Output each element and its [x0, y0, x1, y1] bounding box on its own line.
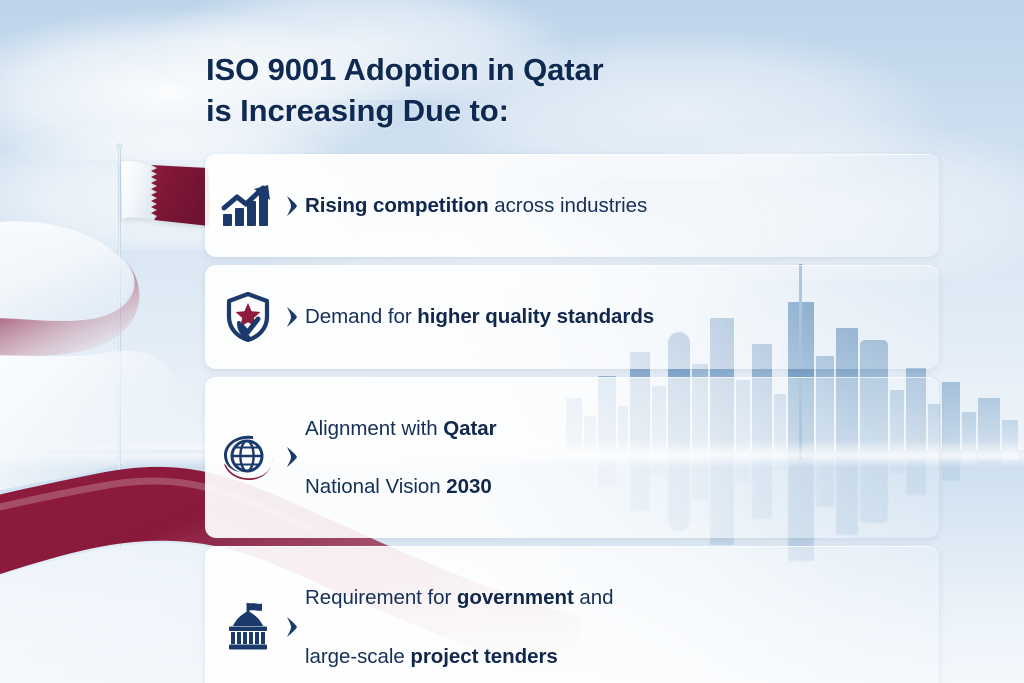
- list-item-regular: across industries: [489, 194, 648, 217]
- chevron-right-icon: [279, 306, 305, 328]
- list-item-regular: Alignment with: [305, 417, 443, 440]
- globe-orbit-icon: [217, 428, 279, 486]
- list-item-line: Requirement for government and: [305, 583, 613, 612]
- list-item[interactable]: Demand for higher quality standards: [205, 265, 939, 368]
- flag-pole-finial: [116, 143, 123, 150]
- list-item-line: Alignment with Qatar: [305, 414, 497, 443]
- list-item-text: Rising competition across industries: [305, 162, 647, 249]
- list-item[interactable]: Rising competition across industries: [205, 154, 939, 257]
- page-title: ISO 9001 Adoption in Qatar is Increasing…: [206, 50, 766, 132]
- chevron-right-icon: [279, 616, 305, 638]
- list-item-bold: Qatar: [443, 417, 496, 440]
- qatar-flag-icon: [121, 158, 211, 236]
- list-item-regular: and: [574, 586, 614, 609]
- infographic-canvas: ISO 9001 Adoption in Qatar is Increasing…: [0, 0, 1024, 683]
- list-item-bold: project tenders: [410, 645, 557, 668]
- title-line-1: ISO 9001 Adoption in Qatar: [206, 50, 766, 91]
- list-item-regular: large-scale: [305, 645, 410, 668]
- list-item-text: Demand for higher quality standards: [305, 273, 654, 360]
- shield-star-check-icon: [217, 288, 279, 346]
- chevron-right-icon: [279, 446, 305, 468]
- list-item-line: National Vision 2030: [305, 472, 497, 501]
- title-line-2: is Increasing Due to:: [206, 91, 766, 132]
- list-item-regular: Requirement for: [305, 586, 457, 609]
- reasons-list: Rising competition across industries Dem…: [205, 154, 939, 683]
- list-item[interactable]: Requirement for government and large-sca…: [205, 546, 939, 683]
- chevron-right-icon: [279, 195, 305, 217]
- list-item[interactable]: Alignment with Qatar National Vision 203…: [205, 377, 939, 539]
- list-item-bold: government: [457, 586, 574, 609]
- list-item-regular: National Vision: [305, 475, 446, 498]
- list-item-bold: higher quality standards: [417, 305, 654, 328]
- list-item-text: Requirement for government and large-sca…: [305, 554, 613, 683]
- bar-chart-growth-icon: [217, 177, 279, 235]
- list-item-bold: 2030: [446, 475, 491, 498]
- government-building-flag-icon: [217, 598, 279, 656]
- list-item-line: large-scale project tenders: [305, 642, 613, 671]
- list-item-line: Demand for higher quality standards: [305, 302, 654, 331]
- list-item-regular: Demand for: [305, 305, 417, 328]
- list-item-line: Rising competition across industries: [305, 191, 647, 220]
- list-item-bold: Rising competition: [305, 194, 489, 217]
- list-item-text: Alignment with Qatar National Vision 203…: [305, 385, 497, 531]
